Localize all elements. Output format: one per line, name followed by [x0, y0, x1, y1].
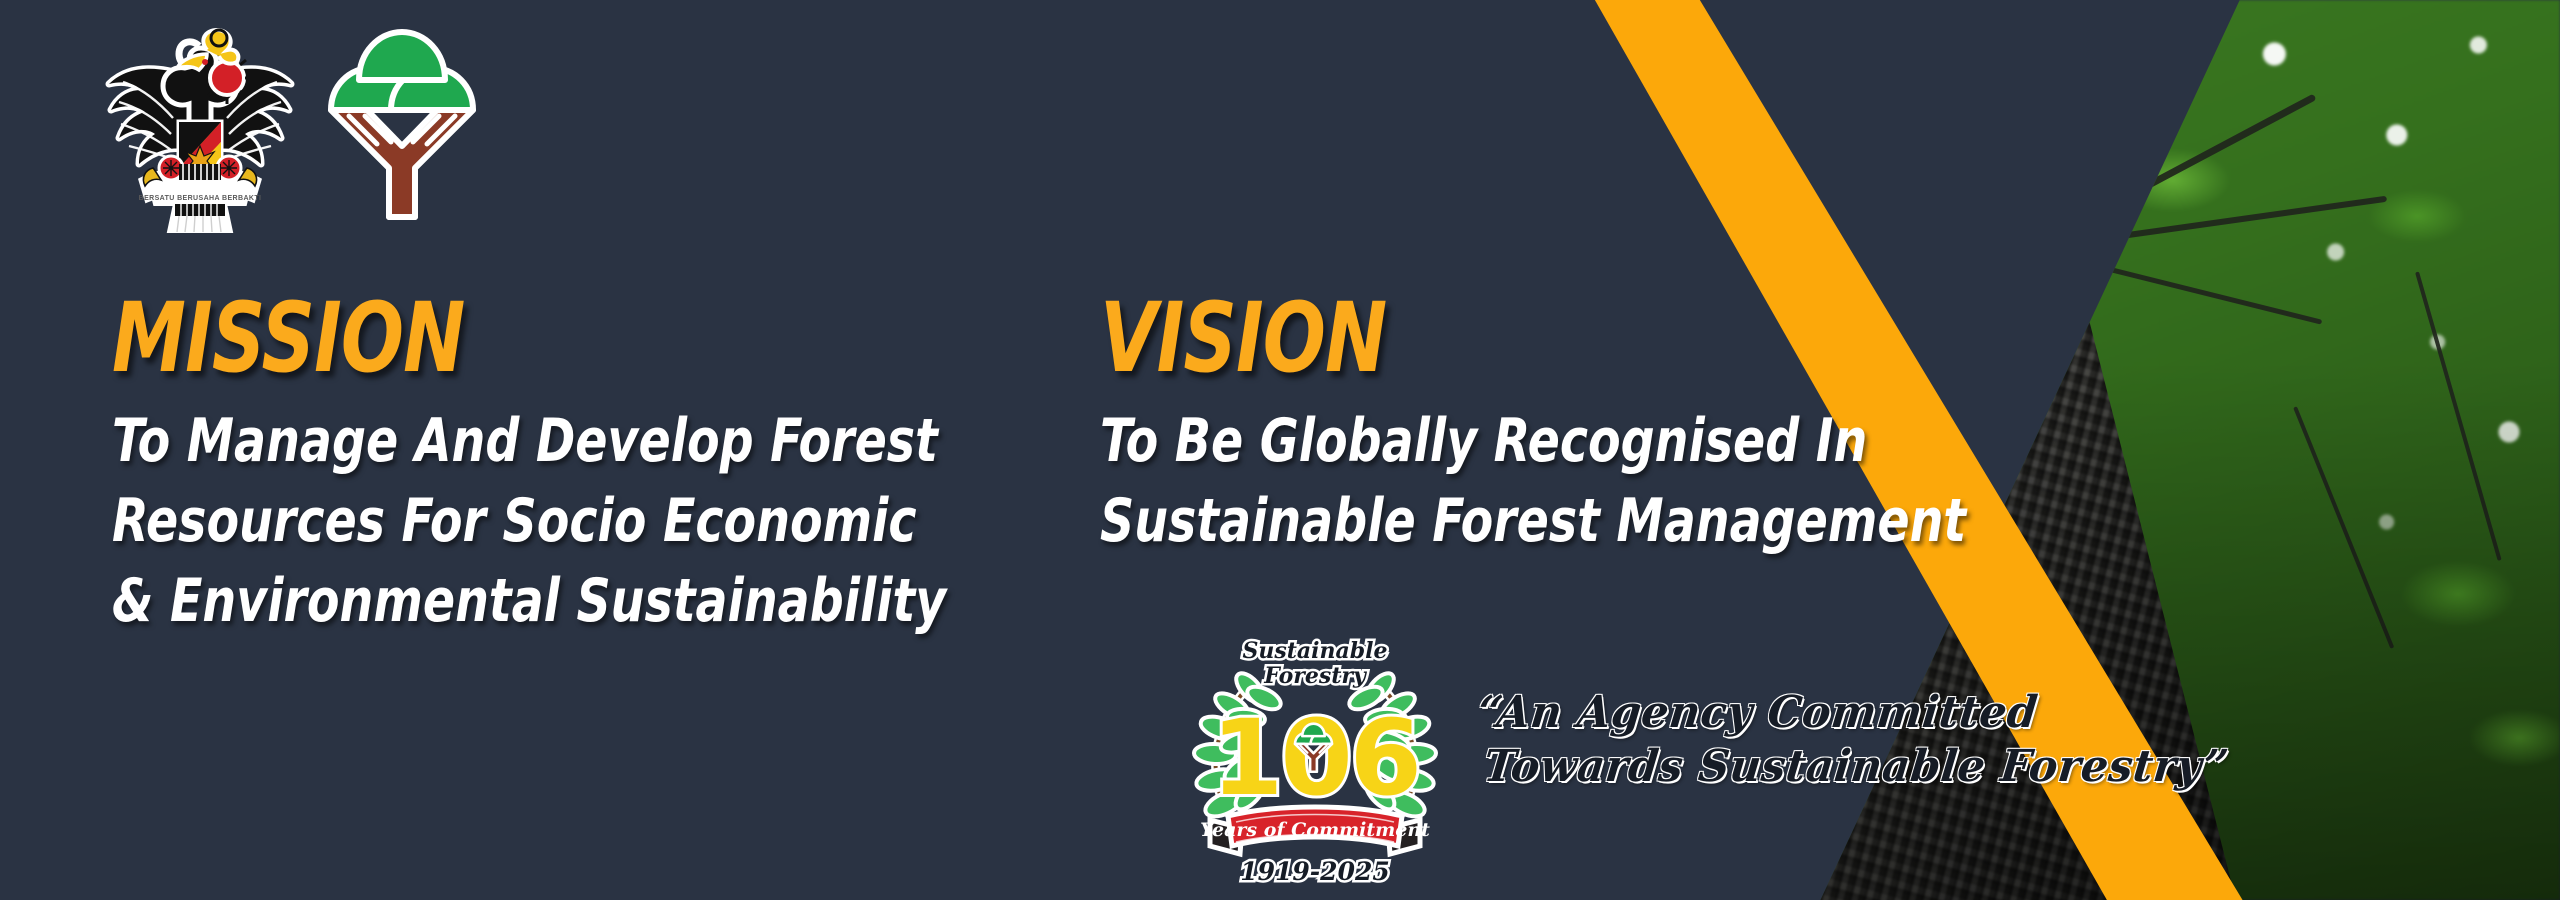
branch-icon — [2048, 0, 2136, 237]
agency-tagline: “An Agency Committed Towards Sustainable… — [1478, 686, 2098, 793]
vision-line-1: To Be Globally Recognised In — [1100, 402, 1980, 482]
mission-line-2: Resources For Socio Economic — [112, 482, 957, 562]
sarawak-state-crest-icon: BERSATU BERUSAHA BERBAKTI — [95, 18, 305, 233]
anniversary-ribbon: Years of Commitment — [1200, 807, 1430, 854]
svg-text:Sustainable: Sustainable — [1242, 638, 1387, 664]
svg-text:Years of Commitment: Years of Commitment — [1200, 819, 1430, 841]
vision-lines: To Be Globally Recognised In Sustainable… — [1100, 402, 2100, 562]
mission-lines: To Manage And Develop Forest Resources F… — [112, 402, 1072, 641]
mission-vision-banner: BERSATU BERUSAHA BERBAKTI — [0, 0, 2560, 900]
branch-icon — [1969, 0, 2052, 238]
branch-icon — [1834, 206, 2050, 257]
svg-text:BERSATU BERUSAHA BERBAKTI: BERSATU BERUSAHA BERBAKTI — [139, 195, 262, 202]
tagline-line-1: “An Agency Committed — [1475, 686, 2082, 740]
anniversary-years: 1919-2025 — [1240, 857, 1390, 886]
svg-text:Forestry: Forestry — [1263, 663, 1368, 689]
mission-line-3: & Environmental Sustainability — [112, 562, 957, 642]
logo-row: BERSATU BERUSAHA BERBAKTI — [95, 18, 477, 233]
vision-line-2: Sustainable Forest Management — [1100, 482, 1980, 562]
anniversary-top-script: Sustainable Forestry — [1242, 638, 1387, 689]
tagline-line-2: Towards Sustainable Forestry” — [1475, 740, 2082, 794]
mission-line-1: To Manage And Develop Forest — [112, 402, 957, 482]
branch-icon — [1857, 83, 2052, 248]
mission-block: MISSION To Manage And Develop Forest Res… — [112, 292, 1072, 642]
vision-block: VISION To Be Globally Recognised In Sust… — [1100, 292, 2100, 562]
vision-heading: VISION — [1100, 292, 1960, 384]
mission-heading: MISSION — [112, 292, 938, 384]
crest-motto-text: BERSATU BERUSAHA BERBAKTI — [139, 195, 262, 202]
anniversary-106-emblem: Sustainable Forestry 106 — [1190, 628, 1440, 886]
forest-department-tree-logo-icon — [327, 18, 477, 223]
